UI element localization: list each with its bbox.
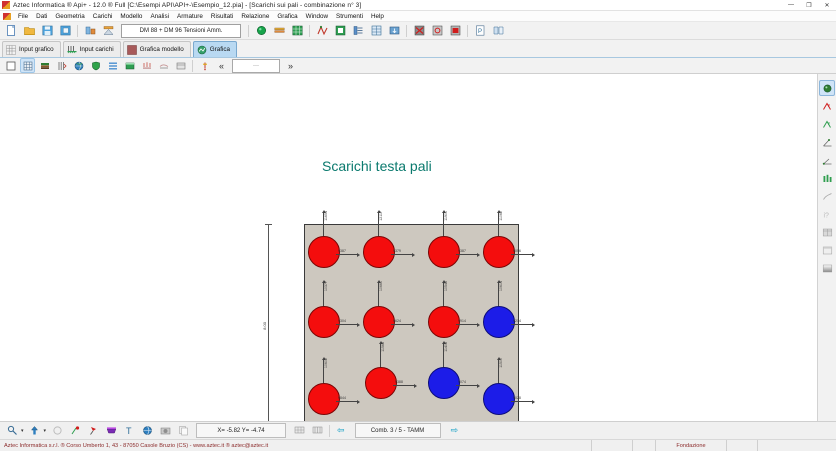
prev-combination-button[interactable]: ⇦ [333,425,349,436]
title-bar: Aztec Informatica ® Api+ - 12.0 ® Full [… [0,0,836,11]
next-combination-button[interactable]: ⇨ [447,425,463,436]
minimize-button[interactable]: — [782,0,800,10]
pile-5-horizontal-label: 9304 [338,319,346,323]
toolbar-separator-5 [467,25,468,37]
menu-item-analisi[interactable]: Analisi [146,13,173,20]
save-as-icon[interactable] [57,23,73,39]
tab-label-input-grafico: Input grafico [19,46,54,53]
settlement-icon[interactable] [156,58,171,73]
export-icon[interactable] [386,23,402,39]
norm-settings-icon[interactable] [100,23,116,39]
diagram-icon[interactable] [350,23,366,39]
pile-3-vertical-label: 11901 [444,211,448,221]
help-query-icon[interactable] [197,58,212,73]
next-view-button[interactable]: » [283,58,298,73]
bar-chart-green-icon[interactable] [819,170,835,186]
pdf-export-icon[interactable]: P [472,23,488,39]
printer-icon[interactable] [447,23,463,39]
load-distribution-icon[interactable] [139,58,154,73]
menu-item-file[interactable]: File [14,13,32,20]
globe-world-icon[interactable] [71,58,86,73]
drawing-title: Scarichi testa pali [322,158,432,174]
shield-green-icon[interactable] [88,58,103,73]
pile-5-horizontal-arrow [336,324,358,325]
zoom-window-icon[interactable] [49,423,65,439]
print-preview-icon[interactable] [429,23,445,39]
company-info: Aztec Informatica s.r.l. ® Corso Umberto… [0,443,268,449]
menu-item-dati[interactable]: Dati [32,13,51,20]
menu-item-grafica[interactable]: Grafica [273,13,301,20]
annotate-red-icon[interactable]: y [819,98,835,114]
pile-12[interactable] [483,383,515,415]
tab-label-grafica-modello: Grafica modello [140,46,184,53]
pile-7-horizontal-arrow [456,324,478,325]
prev-view-button[interactable]: « [214,58,229,73]
drawing-canvas[interactable]: Scarichi testa pali 8.00 116549387121179… [0,74,817,421]
pile-2-vertical-label: 12117 [379,211,383,221]
select-frame-icon[interactable] [3,58,18,73]
pile-3[interactable] [428,236,460,268]
annotate-green-icon[interactable]: y [819,116,835,132]
pan-hand-icon[interactable] [4,423,20,439]
combination-readout: Comb. 3 / 5 - TAMM [355,423,441,438]
pile-1[interactable] [308,236,340,268]
menu-bar: File Dati Geometria Carichi Modello Anal… [0,11,836,22]
svg-text:P: P [478,29,482,35]
layers-icon[interactable] [271,23,287,39]
zoom-extents-icon[interactable] [819,80,835,96]
tab-input-grafico[interactable]: Input grafico [2,41,61,57]
svg-text:y: y [828,102,830,107]
pile-1-horizontal-label: 9387 [338,249,346,253]
color-palette-icon[interactable] [103,423,119,439]
pile-5-vertical-label: 10377 [324,281,328,291]
pile-12-horizontal-arrow [511,401,533,402]
stack-lines-icon[interactable] [105,58,120,73]
pile-8-horizontal-label: 9214 [513,319,521,323]
zoom-dynamic-icon[interactable] [67,423,83,439]
menu-item-geometria[interactable]: Geometria [51,13,88,20]
bottom-toolbar: ▾ ▾ T X= -5.82 Y= -4.74 [0,421,836,439]
view-nav-box[interactable]: ··· [232,59,280,73]
menu-item-armature[interactable]: Armature [173,13,207,20]
bottom-separator [329,425,330,437]
pile-9[interactable] [308,383,340,415]
chart-icon [197,45,207,55]
menu-item-modello[interactable]: Modello [116,13,146,20]
dimension-line-vertical [268,224,269,421]
tab-label-grafica: Grafica [210,46,230,53]
window-title: Aztec Informatica ® Api+ - 12.0 ® Full [… [13,2,361,9]
tab-strip: Input grafico Input carichi Grafica mode… [0,40,836,58]
status-cell-1 [591,440,632,451]
analysis-run-icon[interactable] [253,23,269,39]
pile-11-horizontal-label: 9074 [458,380,466,384]
snap-grid-icon[interactable] [291,423,307,439]
zoom-dropdown-caret-icon[interactable]: ▾ [44,428,47,434]
open-file-icon[interactable] [21,23,37,39]
toolbar2-separator [192,60,193,72]
table-icon[interactable] [368,23,384,39]
dimension-label-vertical: 8.00 [262,322,267,330]
pile-4-horizontal-label: 9056 [513,249,521,253]
status-bar: Aztec Informatica s.r.l. ® Corso Umberto… [0,439,836,451]
close-button[interactable]: ✕ [818,0,836,10]
app-logo-icon [2,1,10,9]
gradient-fill-icon[interactable] [819,260,835,276]
tab-grafica[interactable]: Grafica [193,41,237,57]
pile-4[interactable] [483,236,515,268]
help-book-icon[interactable] [490,23,506,39]
pile-10-horizontal-arrow [393,385,415,386]
globe-icon[interactable] [139,423,155,439]
main-toolbar: DM 88 + DM 96 Tensioni Amm. [0,22,836,40]
save-file-icon[interactable] [39,23,55,39]
pile-11-vertical-label: 11408 [444,342,448,352]
graphics-toolbar: « ··· » [0,58,836,74]
toolbar-separator-2 [248,25,249,37]
pile-6-horizontal-label: 9624 [393,319,401,323]
grid-icon [6,45,16,55]
grid-toggle-icon[interactable] [20,58,35,73]
pile-12-horizontal-label: 9028 [513,396,521,400]
new-file-icon[interactable] [3,23,19,39]
document-logo-icon [3,13,11,20]
menu-item-window[interactable]: Window [302,13,332,20]
zoom-in-icon[interactable] [27,423,43,439]
window-controls: — ❐ ✕ [782,0,836,10]
loads-icon [67,45,77,55]
coordinate-readout: X= -5.82 Y= -4.74 [196,423,286,438]
pin-icon[interactable] [85,423,101,439]
svg-text:i?: i? [823,212,829,219]
query-info-icon[interactable]: i? [819,206,835,222]
pile-3-horizontal-arrow [456,254,478,255]
toolbar-separator-4 [406,25,407,37]
tab-label-input-carichi: Input carichi [80,46,114,53]
pile-8-vertical-label: 10614 [499,281,503,291]
pile-6-vertical-label: 10661 [379,281,383,291]
piles-icon[interactable] [54,58,69,73]
pile-8[interactable] [483,306,515,338]
status-cell-fondazione: Fondazione [655,440,726,451]
status-cell-2 [632,440,655,451]
pile-10-vertical-label: 11568 [381,342,385,352]
norm-combo[interactable]: DM 88 + DM 96 Tensioni Amm. [121,24,241,38]
menu-item-help[interactable]: Help [367,13,388,20]
window-layout-icon[interactable] [819,242,835,258]
measure-distance-icon[interactable] [819,152,835,168]
pile-6[interactable] [363,306,395,338]
line-tool-icon[interactable] [819,188,835,204]
table-view-icon[interactable] [819,224,835,240]
pile-11[interactable] [428,367,460,399]
pile-2-horizontal-arrow [391,254,413,255]
workspace: Scarichi testa pali 8.00 116549387121179… [0,74,836,421]
data-input-icon[interactable] [82,23,98,39]
fill-green-icon[interactable] [122,58,137,73]
maximize-button[interactable]: ❐ [800,0,818,10]
menu-item-relazione[interactable]: Relazione [237,13,273,20]
soil-layers-icon[interactable] [37,58,52,73]
pile-9-vertical-label: 10602 [324,358,328,368]
pile-7-vertical-label: 10546 [444,281,448,291]
pile-11-horizontal-arrow [456,385,478,386]
svg-text:y: y [828,120,830,125]
pile-12-vertical-label: 11500 [499,358,503,368]
pile-7[interactable] [428,306,460,338]
text-tool-icon[interactable]: T [121,423,137,439]
pile-4-horizontal-arrow [511,254,533,255]
pile-9-horizontal-arrow [336,401,358,402]
tab-grafica-modello[interactable]: Grafica modello [123,41,191,57]
pile-1-vertical-label: 11654 [324,211,328,221]
pile-10[interactable] [365,367,397,399]
pile-8-horizontal-arrow [511,324,533,325]
toolbar-separator [77,25,78,37]
pile-6-horizontal-arrow [391,324,413,325]
copy-image-icon[interactable] [175,423,191,439]
pile-4-vertical-label: 11062 [499,211,503,221]
snap-ortho-icon[interactable] [309,423,325,439]
camera-icon[interactable] [157,423,173,439]
plan-view-icon[interactable] [173,58,188,73]
menu-item-risultati[interactable]: Risultati [207,13,237,20]
pile-9-horizontal-label: 9844 [338,396,346,400]
right-toolbar: y y i? [817,74,836,421]
mesh-icon[interactable] [314,23,330,39]
status-cell-4 [726,440,757,451]
application-window: Aztec Informatica ® Api+ - 12.0 ® Full [… [0,0,836,451]
pile-5[interactable] [308,306,340,338]
measure-angle-icon[interactable] [819,134,835,150]
section-icon[interactable] [332,23,348,39]
pile-2[interactable] [363,236,395,268]
pile-10-horizontal-label: 9388 [395,380,403,384]
report-red-icon[interactable] [411,23,427,39]
menu-item-carichi[interactable]: Carichi [89,13,117,20]
status-cell-5 [757,440,836,451]
toolbar-separator-3 [309,25,310,37]
pile-3-horizontal-label: 9387 [458,249,466,253]
model-icon [127,45,137,55]
tab-input-carichi[interactable]: Input carichi [63,41,121,57]
pile-1-horizontal-arrow [336,254,358,255]
svg-text:T: T [126,426,132,436]
grid-results-icon[interactable] [289,23,305,39]
menu-item-strumenti[interactable]: Strumenti [332,13,367,20]
pan-dropdown-caret-icon[interactable]: ▾ [21,428,24,434]
pile-2-horizontal-label: 9379 [393,249,401,253]
status-cells: Fondazione [591,440,836,451]
pile-7-horizontal-label: 9914 [458,319,466,323]
